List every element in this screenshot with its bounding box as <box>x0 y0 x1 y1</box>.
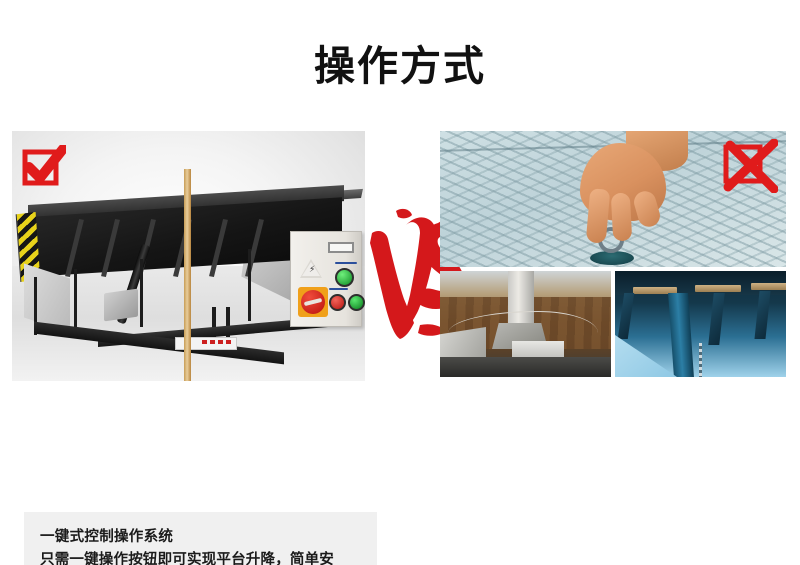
lower-button[interactable] <box>329 294 346 311</box>
right-lower-image-row <box>440 271 786 377</box>
checkbox-checked-icon <box>22 145 66 187</box>
support-leg <box>140 259 143 327</box>
control-display <box>328 242 354 253</box>
rotary-disconnect-switch[interactable] <box>298 287 328 317</box>
left-product-image: ⚡ <box>12 131 365 381</box>
ground-shadow <box>440 357 611 377</box>
chain-anchor-plate <box>590 251 634 265</box>
page-title: 操作方式 <box>0 46 800 87</box>
raise-button[interactable] <box>335 268 354 287</box>
control-box[interactable]: ⚡ <box>290 231 362 327</box>
hydraulic-pump-unit <box>104 289 138 322</box>
lower-button-tag <box>329 288 348 290</box>
lightning-bolt-glyph: ⚡ <box>309 265 315 274</box>
timber-block <box>751 283 786 290</box>
raise-button-tag <box>335 262 357 264</box>
support-rod-mechanism <box>440 271 611 377</box>
hand-pulling-chain-ring <box>440 131 786 267</box>
finger <box>611 193 632 242</box>
left-caption-body: 只需一键操作按钮即可实现平台升降，简单安全。 <box>40 549 361 565</box>
support-rib <box>618 293 634 339</box>
support-rib <box>754 291 770 339</box>
left-caption-box: 一键式控制操作系统 只需一键操作按钮即可实现平台升降，简单安全。 <box>24 512 377 565</box>
power-button[interactable] <box>348 294 365 311</box>
left-caption-heading: 一键式控制操作系统 <box>40 526 361 549</box>
support-leg <box>74 269 77 329</box>
support-rib <box>708 293 724 345</box>
support-leg <box>248 249 251 321</box>
blue-support-bars <box>615 271 786 377</box>
timber-block <box>695 285 741 292</box>
main-support-bar <box>668 293 694 377</box>
wooden-measuring-post <box>184 169 191 381</box>
right-comparison-panel: 平台复位状态下靠台面板有两条支撑杆承重，在货车低于月台高度时，需要通过手动拉链将… <box>440 131 786 377</box>
checkbox-crossed-icon <box>722 139 778 193</box>
hanging-chain <box>699 343 702 377</box>
left-comparison-panel: ⚡ 一键式控制操作系统 只需一键操作按钮即可实现平台升降，简单安全。 <box>12 131 365 381</box>
slide-canvas: 操作方式 <box>0 0 800 565</box>
